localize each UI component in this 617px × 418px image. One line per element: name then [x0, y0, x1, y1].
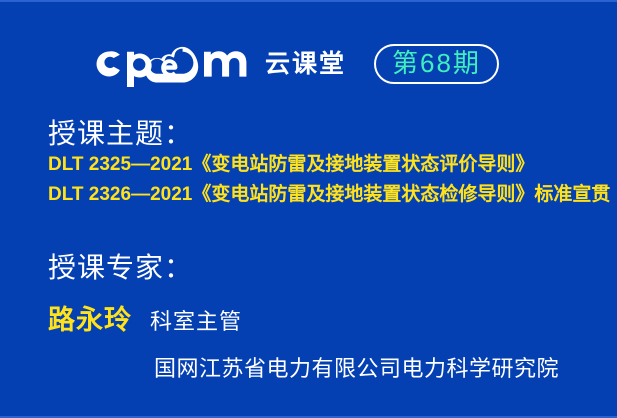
- brand-logo: 云课堂: [86, 41, 346, 87]
- expert-block: 授课专家： 路永玲 科室主管 国网江苏省电力有限公司电力科学研究院: [48, 252, 559, 383]
- topic-line-1: DLT 2325—2021《变电站防雷及接地装置状态评价导则》: [48, 150, 610, 179]
- topic-line-2: DLT 2326—2021《变电站防雷及接地装置状态检修导则》标准宣贯: [48, 180, 610, 209]
- expert-title: 科室主管: [150, 304, 242, 336]
- logo-chinese-label: 云课堂: [265, 52, 346, 77]
- expert-label: 授课专家：: [48, 252, 559, 284]
- topic-label: 授课主题：: [48, 118, 610, 150]
- episode-badge: 第68期: [374, 44, 499, 84]
- cloud-e-logo-icon: [86, 41, 251, 87]
- topic-block: 授课主题： DLT 2325—2021《变电站防雷及接地装置状态评价导则》 DL…: [48, 118, 610, 209]
- expert-name-row: 路永玲 科室主管: [48, 298, 559, 337]
- expert-organization: 国网江苏省电力有限公司电力科学研究院: [154, 351, 559, 383]
- episode-badge-label: 第68期: [392, 50, 481, 76]
- webinar-poster: 云课堂 第68期 授课主题： DLT 2325—2021《变电站防雷及接地装置状…: [0, 0, 617, 418]
- poster-header: 云课堂 第68期: [0, 36, 617, 92]
- top-divider: [0, 0, 617, 2]
- expert-name: 路永玲: [48, 298, 132, 337]
